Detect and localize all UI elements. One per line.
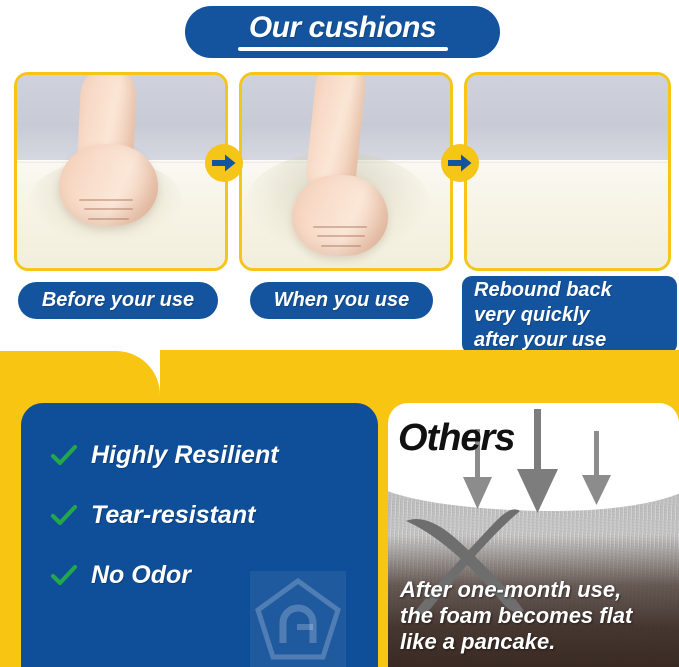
knuckle-line [321,245,361,247]
features-card: Highly Resilient Tear-resistant No Odor [21,403,378,667]
caption-during-label: When you use [274,289,410,312]
yellow-strip-left [0,394,21,667]
photo-panel-before [14,72,228,271]
photo-panel-after [464,72,671,271]
feature-item-tear-resistant: Tear-resistant [51,501,279,530]
knuckle-line [88,218,130,220]
arrow-right-icon-2 [441,144,479,182]
knuckle-line [317,235,365,237]
photo-after-image [467,75,668,268]
yellow-strip-middle [378,394,388,667]
feature-item-no-odor: No Odor [51,561,279,590]
others-caption: After one-month use, the foam becomes fl… [400,577,671,655]
caption-before: Before your use [18,282,218,319]
foam-surface [467,160,668,268]
caption-after-line-2: very quickly [474,303,590,328]
caption-before-label: Before your use [42,289,194,312]
caption-after: Rebound back very quickly after your use [462,276,677,354]
title-underline [238,47,448,51]
knuckle-line [313,226,367,228]
check-icon [51,505,77,527]
features-list: Highly Resilient Tear-resistant No Odor [51,441,279,621]
fist [59,144,159,225]
feature-label: No Odor [91,561,191,590]
caption-during: When you use [250,282,433,319]
others-title: Others [398,417,514,460]
caption-after-line-1: Rebound back [474,278,612,303]
check-icon [51,565,77,587]
page-title-banner: Our cushions [185,6,500,58]
feature-label: Highly Resilient [91,441,279,470]
infographic-root: Our cushions [0,0,679,667]
photo-panel-during [239,72,453,271]
foam-edge [467,160,668,163]
check-icon [51,445,77,467]
feature-label: Tear-resistant [91,501,255,530]
knuckle-line [84,208,134,210]
photo-during-image [242,75,450,268]
page-title: Our cushions [249,13,436,43]
others-caption-line-2: the foam becomes flat [400,603,671,629]
knuckle-line [79,199,133,201]
feature-item-highly-resilient: Highly Resilient [51,441,279,470]
others-caption-line-1: After one-month use, [400,577,671,603]
caption-after-line-3: after your use [474,328,606,353]
pentagon-house-logo-icon [250,571,346,667]
yellow-corner-swoop [0,350,160,394]
background-wall [467,75,668,160]
photo-before-image [17,75,225,268]
others-card: Others After one-month use, the foam bec… [388,403,679,667]
arrow-right-icon-1 [205,144,243,182]
others-caption-line-3: like a pancake. [400,629,671,655]
